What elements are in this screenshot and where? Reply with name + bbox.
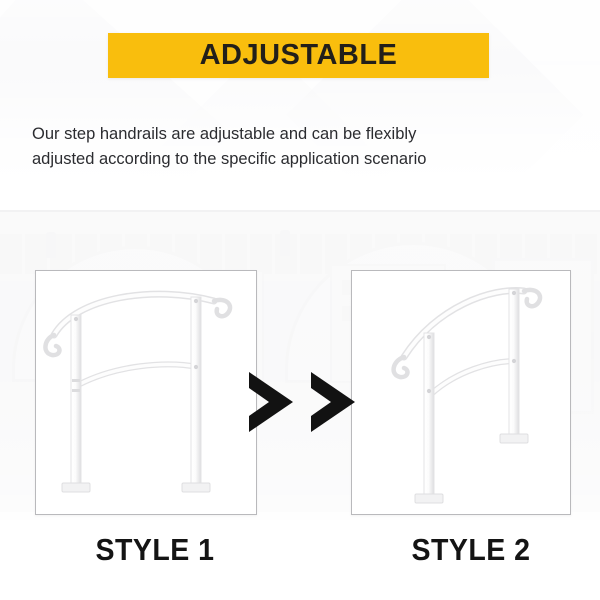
handrail-illustration-style-2 bbox=[352, 271, 570, 514]
hero-section: ADJUSTABLE Our step handrails are adjust… bbox=[0, 0, 600, 212]
promo-image: ADJUSTABLE Our step handrails are adjust… bbox=[0, 0, 600, 600]
chevron-right-icon bbox=[305, 366, 361, 438]
handrail-illustration-style-1 bbox=[36, 271, 256, 514]
hero-white-overlay bbox=[0, 0, 600, 212]
style-2-label: STYLE 2 bbox=[379, 534, 563, 565]
chevron-right-icon bbox=[243, 366, 299, 438]
description-line-2: adjusted according to the specific appli… bbox=[32, 147, 502, 172]
product-panel-style-1 bbox=[35, 270, 257, 515]
style-1-label: STYLE 1 bbox=[63, 534, 247, 565]
description-line-1: Our step handrails are adjustable and ca… bbox=[32, 122, 502, 147]
description-text: Our step handrails are adjustable and ca… bbox=[32, 122, 502, 172]
product-panel-style-2 bbox=[351, 270, 571, 515]
adjustable-banner: ADJUSTABLE bbox=[108, 33, 489, 78]
banner-title: ADJUSTABLE bbox=[200, 41, 398, 70]
comparison-arrows bbox=[243, 366, 361, 438]
